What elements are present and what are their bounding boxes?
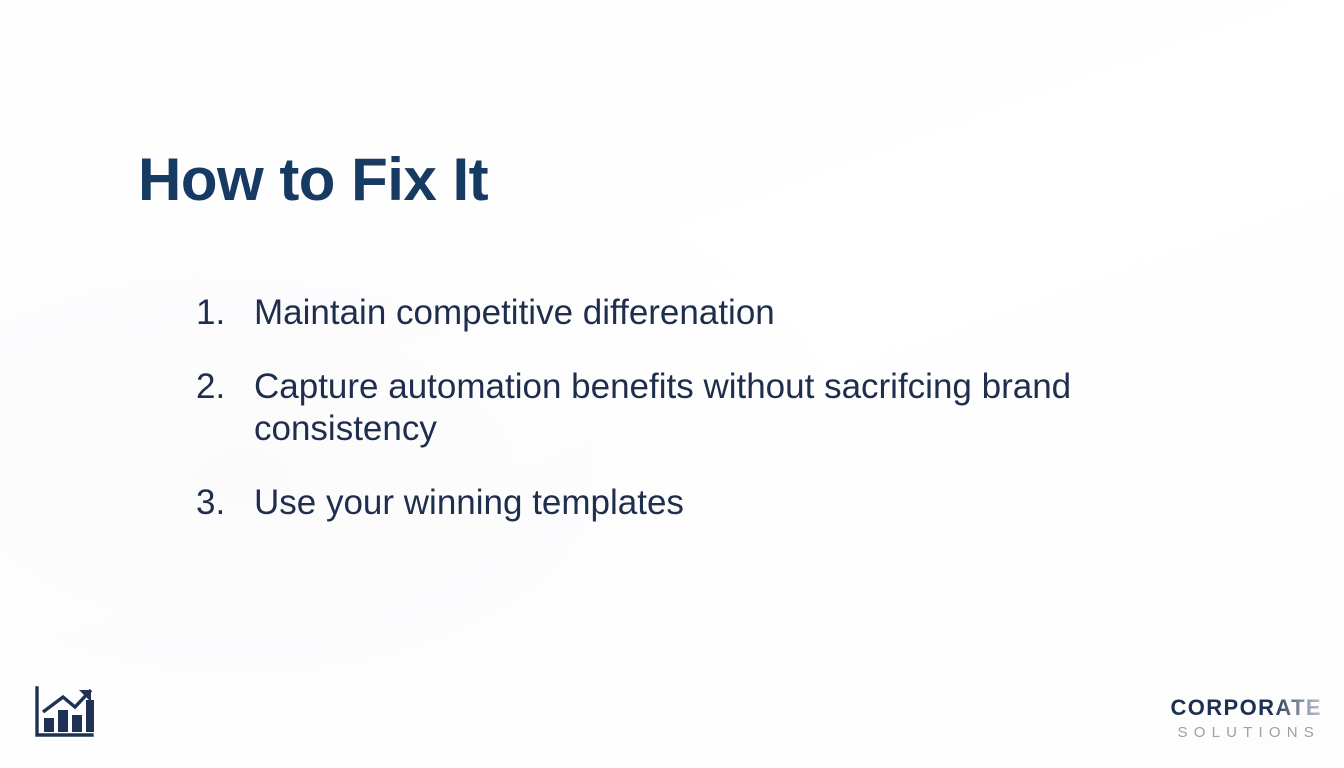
brand-lockup: CORPORATE SOLUTIONS [1170,697,1322,740]
bar-chart-growth-icon [32,686,94,740]
bullet-list: 1. Maintain competitive differenation 2.… [196,292,1156,525]
list-item-number: 3. [196,482,254,525]
list-item: 3. Use your winning templates [196,482,1156,525]
list-item-number: 1. [196,292,254,335]
list-item-number: 2. [196,366,254,409]
list-item-label: Maintain competitive differenation [254,292,1156,335]
list-item: 2. Capture automation benefits without s… [196,366,1156,451]
brand-secondary-name: SOLUTIONS [1170,725,1322,740]
brand-primary-name: CORPORATE [1170,697,1322,719]
page-title: How to Fix It [138,148,488,211]
slide-canvas: How to Fix It 1. Maintain competitive di… [0,0,1344,768]
list-item-label: Capture automation benefits without sacr… [254,366,1156,451]
list-item-label: Use your winning templates [254,482,1156,525]
list-item: 1. Maintain competitive differenation [196,292,1156,335]
